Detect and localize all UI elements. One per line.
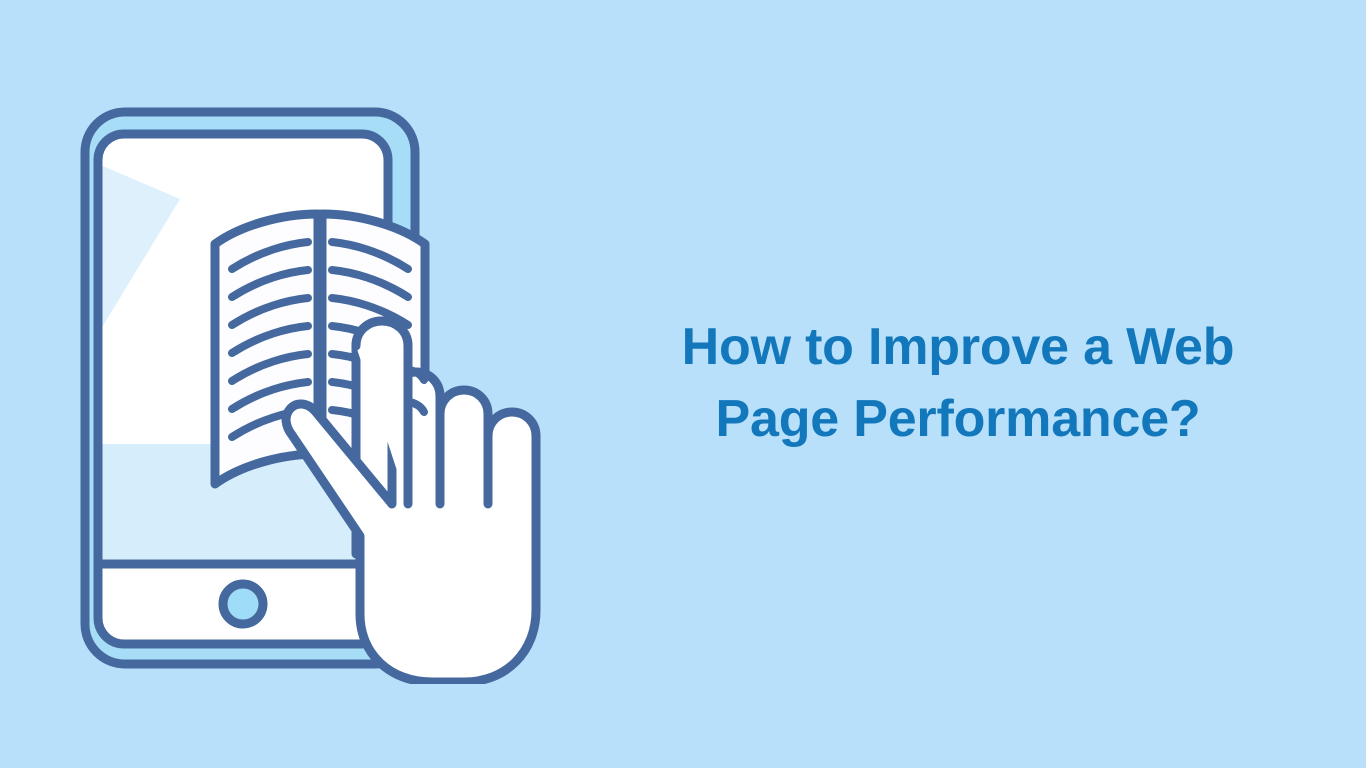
banner: How to Improve a Web Page Performance?: [0, 0, 1366, 768]
smartphone-book-hand-illustration: [60, 84, 580, 684]
text-pane: How to Improve a Web Page Performance?: [640, 0, 1366, 768]
illustration-pane: [0, 0, 640, 768]
page-title: How to Improve a Web Page Performance?: [682, 312, 1235, 456]
home-button-icon[interactable]: [223, 584, 263, 624]
